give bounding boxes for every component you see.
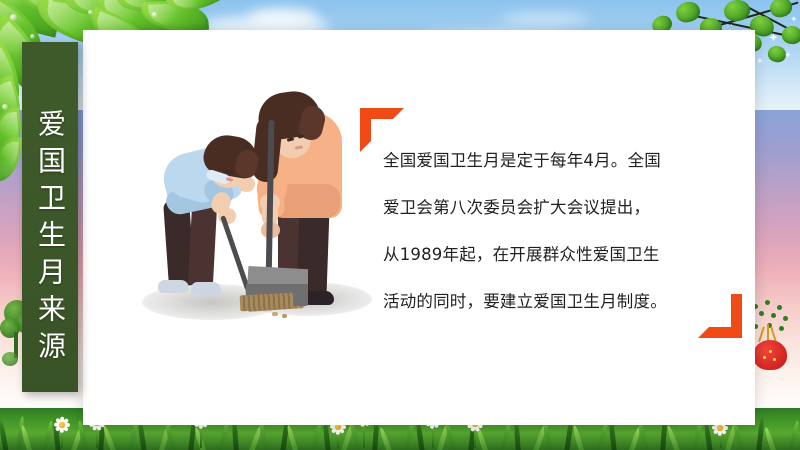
page-title: 爱国卫生月来源 xyxy=(36,109,64,368)
slide-canvas: ✦ ✦ ✦ ✦ · xyxy=(0,0,800,450)
vertical-title-band: 爱国卫生月来源 xyxy=(22,42,78,392)
body-paragraph: 全国爱国卫生月是定于每年4月。全国 爱卫会第八次委员会扩大会议提出， 从1989… xyxy=(383,137,718,325)
body-line: 活动的同时，要建立爱国卫生月制度。 xyxy=(383,278,718,325)
cloud-icon xyxy=(248,8,318,26)
body-line: 全国爱国卫生月是定于每年4月。全国 xyxy=(383,137,718,184)
body-line: 爱卫会第八次委员会扩大会议提出， xyxy=(383,184,718,231)
cloud-icon xyxy=(500,12,590,26)
bracket-vertical-bar xyxy=(360,108,371,152)
body-line: 从1989年起，在开展群众性爱国卫生 xyxy=(383,231,718,278)
illustration-cleaning-scene xyxy=(150,88,360,338)
